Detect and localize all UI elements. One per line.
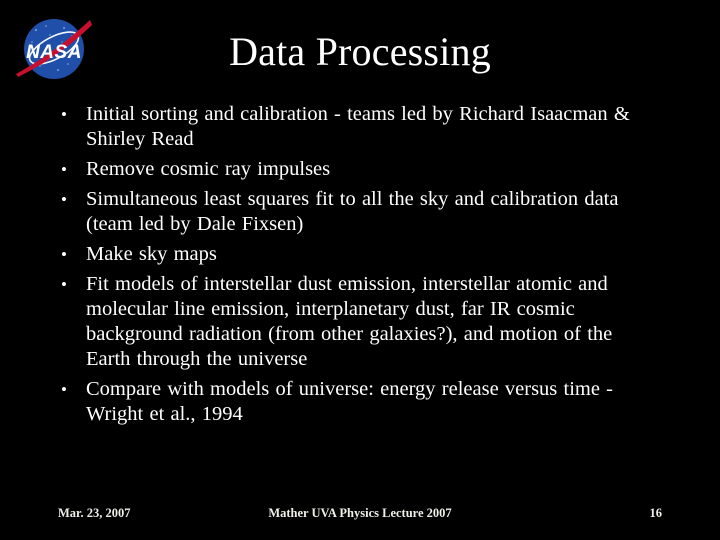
bullet-list: • Initial sorting and calibration - team… bbox=[56, 102, 662, 432]
bullet-icon: • bbox=[61, 187, 75, 212]
slide-number: 16 bbox=[650, 504, 663, 522]
bullet-icon: • bbox=[61, 242, 75, 267]
slide-footer: Mar. 23, 2007 Mather UVA Physics Lecture… bbox=[0, 504, 720, 522]
bullet-icon: • bbox=[61, 102, 75, 127]
list-item: • Simultaneous least squares fit to all … bbox=[56, 187, 662, 237]
list-item: • Fit models of interstellar dust emissi… bbox=[56, 272, 662, 372]
list-item-text: Compare with models of universe: energy … bbox=[86, 377, 662, 427]
list-item: • Remove cosmic ray impulses bbox=[56, 157, 662, 182]
list-item-text: Remove cosmic ray impulses bbox=[86, 157, 662, 182]
list-item-text: Simultaneous least squares fit to all th… bbox=[86, 187, 662, 237]
list-item-text: Fit models of interstellar dust emission… bbox=[86, 272, 662, 372]
bullet-icon: • bbox=[61, 157, 75, 182]
list-item: • Initial sorting and calibration - team… bbox=[56, 102, 662, 152]
list-item-text: Make sky maps bbox=[86, 242, 662, 267]
page-title: Data Processing bbox=[0, 28, 720, 76]
list-item: • Compare with models of universe: energ… bbox=[56, 377, 662, 427]
bullet-icon: • bbox=[61, 377, 75, 402]
bullet-icon: • bbox=[61, 272, 75, 297]
list-item: • Make sky maps bbox=[56, 242, 662, 267]
footer-title: Mather UVA Physics Lecture 2007 bbox=[0, 504, 720, 522]
presentation-slide: NASA Data Processing • Initial sorting a… bbox=[0, 0, 720, 540]
list-item-text: Initial sorting and calibration - teams … bbox=[86, 102, 662, 152]
